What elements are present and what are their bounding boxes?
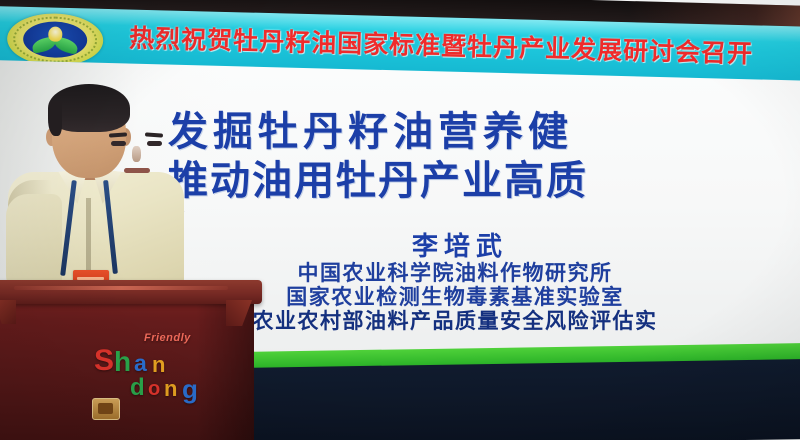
slide-title: 发掘牡丹籽油营养健 推动油用牡丹产业高质	[168, 108, 588, 206]
emblem-seed	[48, 26, 62, 41]
mouth	[124, 168, 150, 173]
nose	[132, 146, 141, 162]
brand-letter-s: S	[94, 344, 114, 378]
brand-letter-h: h	[114, 346, 131, 378]
brand-letter-g: g	[182, 374, 198, 405]
podium-plaque-icon	[92, 398, 120, 420]
podium-bevel-left	[0, 300, 16, 324]
podium-top-surface	[0, 280, 262, 304]
slide-title-line-1: 发掘牡丹籽油营养健	[168, 108, 588, 157]
brand-tagline: Friendly	[144, 332, 191, 344]
eye-right	[147, 141, 162, 146]
plaque-inner	[98, 403, 113, 414]
eyebrow-right	[145, 132, 163, 137]
slide-title-line-2: 推动油用牡丹产业高质	[168, 157, 588, 206]
brand-letter-d: d	[130, 374, 145, 402]
speaker-sleeve-left	[6, 194, 62, 292]
brand-letter-n2: n	[164, 376, 177, 402]
brand-letter-o: o	[148, 378, 160, 401]
brand-letter-a: a	[134, 350, 147, 377]
conference-photo: 发掘牡丹籽油营养健 推动油用牡丹产业高质 李培武 中国农业科学院油料作物研究所 …	[0, 0, 800, 440]
speaker-hair-side	[48, 102, 62, 136]
eye-left	[111, 141, 126, 146]
brand-letter-n: n	[152, 352, 165, 378]
friendly-shandong-logo: Friendly S h a n d o n g	[92, 336, 222, 408]
eyebrow-left	[109, 132, 127, 137]
podium-top-highlight	[14, 286, 228, 290]
